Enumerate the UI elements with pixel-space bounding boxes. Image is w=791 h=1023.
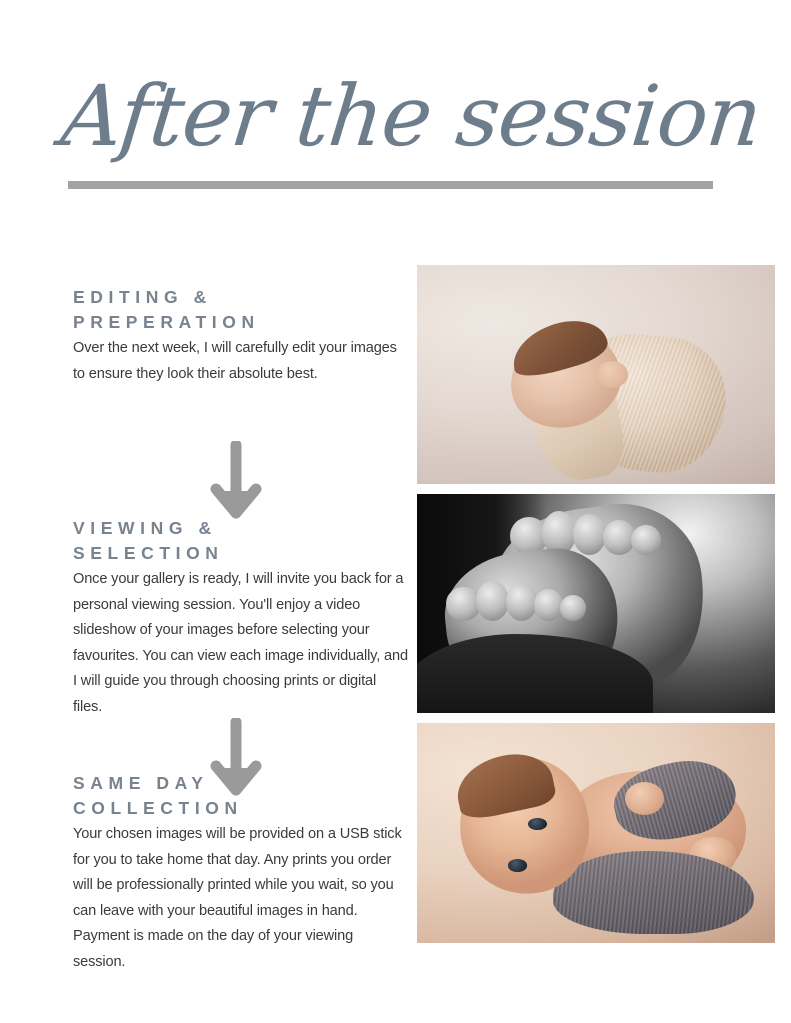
photo-newborn-feet-blackwhite <box>417 494 775 713</box>
down-arrow-icon <box>208 441 264 525</box>
page-header: After the session <box>0 0 791 210</box>
section-heading: EDITING & PREPERATION <box>73 285 409 335</box>
photo-render <box>417 265 775 484</box>
text-column: EDITING & PREPERATION Over the next week… <box>0 255 412 955</box>
photo-column <box>417 255 775 955</box>
poster-page: After the session EDITING & PREPERATION … <box>0 0 791 1023</box>
section-body: Once your gallery is ready, I will invit… <box>73 567 409 720</box>
photo-baby-eye-right <box>508 859 527 871</box>
photo-toes-back <box>510 507 668 555</box>
section-same-day-collection: SAME DAY COLLECTION Your chosen images w… <box>73 771 409 975</box>
title-divider-rule <box>68 181 713 189</box>
section-heading-line-1: SAME DAY <box>73 771 409 796</box>
section-heading-line-2: PREPERATION <box>73 310 409 335</box>
section-heading: VIEWING & SELECTION <box>73 516 409 566</box>
section-heading: SAME DAY COLLECTION <box>73 771 409 821</box>
photo-sleeping-newborn-cream-wrap <box>417 265 775 484</box>
photo-awake-newborn-grey-wrap <box>417 723 775 943</box>
section-heading-line-1: EDITING & <box>73 285 409 310</box>
content-area: EDITING & PREPERATION Over the next week… <box>0 255 791 955</box>
section-body: Your chosen images will be provided on a… <box>73 822 409 975</box>
photo-toes-front <box>446 573 589 621</box>
section-heading-line-2: COLLECTION <box>73 796 409 821</box>
photo-baby-eye-left <box>528 818 547 830</box>
section-editing-preperation: EDITING & PREPERATION Over the next week… <box>73 285 409 387</box>
section-heading-line-2: SELECTION <box>73 541 409 566</box>
section-body: Over the next week, I will carefully edi… <box>73 336 409 387</box>
photo-render <box>417 494 775 713</box>
photo-baby-hand <box>596 361 628 387</box>
section-heading-line-1: VIEWING & <box>73 516 409 541</box>
page-title: After the session <box>57 72 746 160</box>
photo-render <box>417 723 775 943</box>
section-viewing-selection: VIEWING & SELECTION Once your gallery is… <box>73 516 409 720</box>
